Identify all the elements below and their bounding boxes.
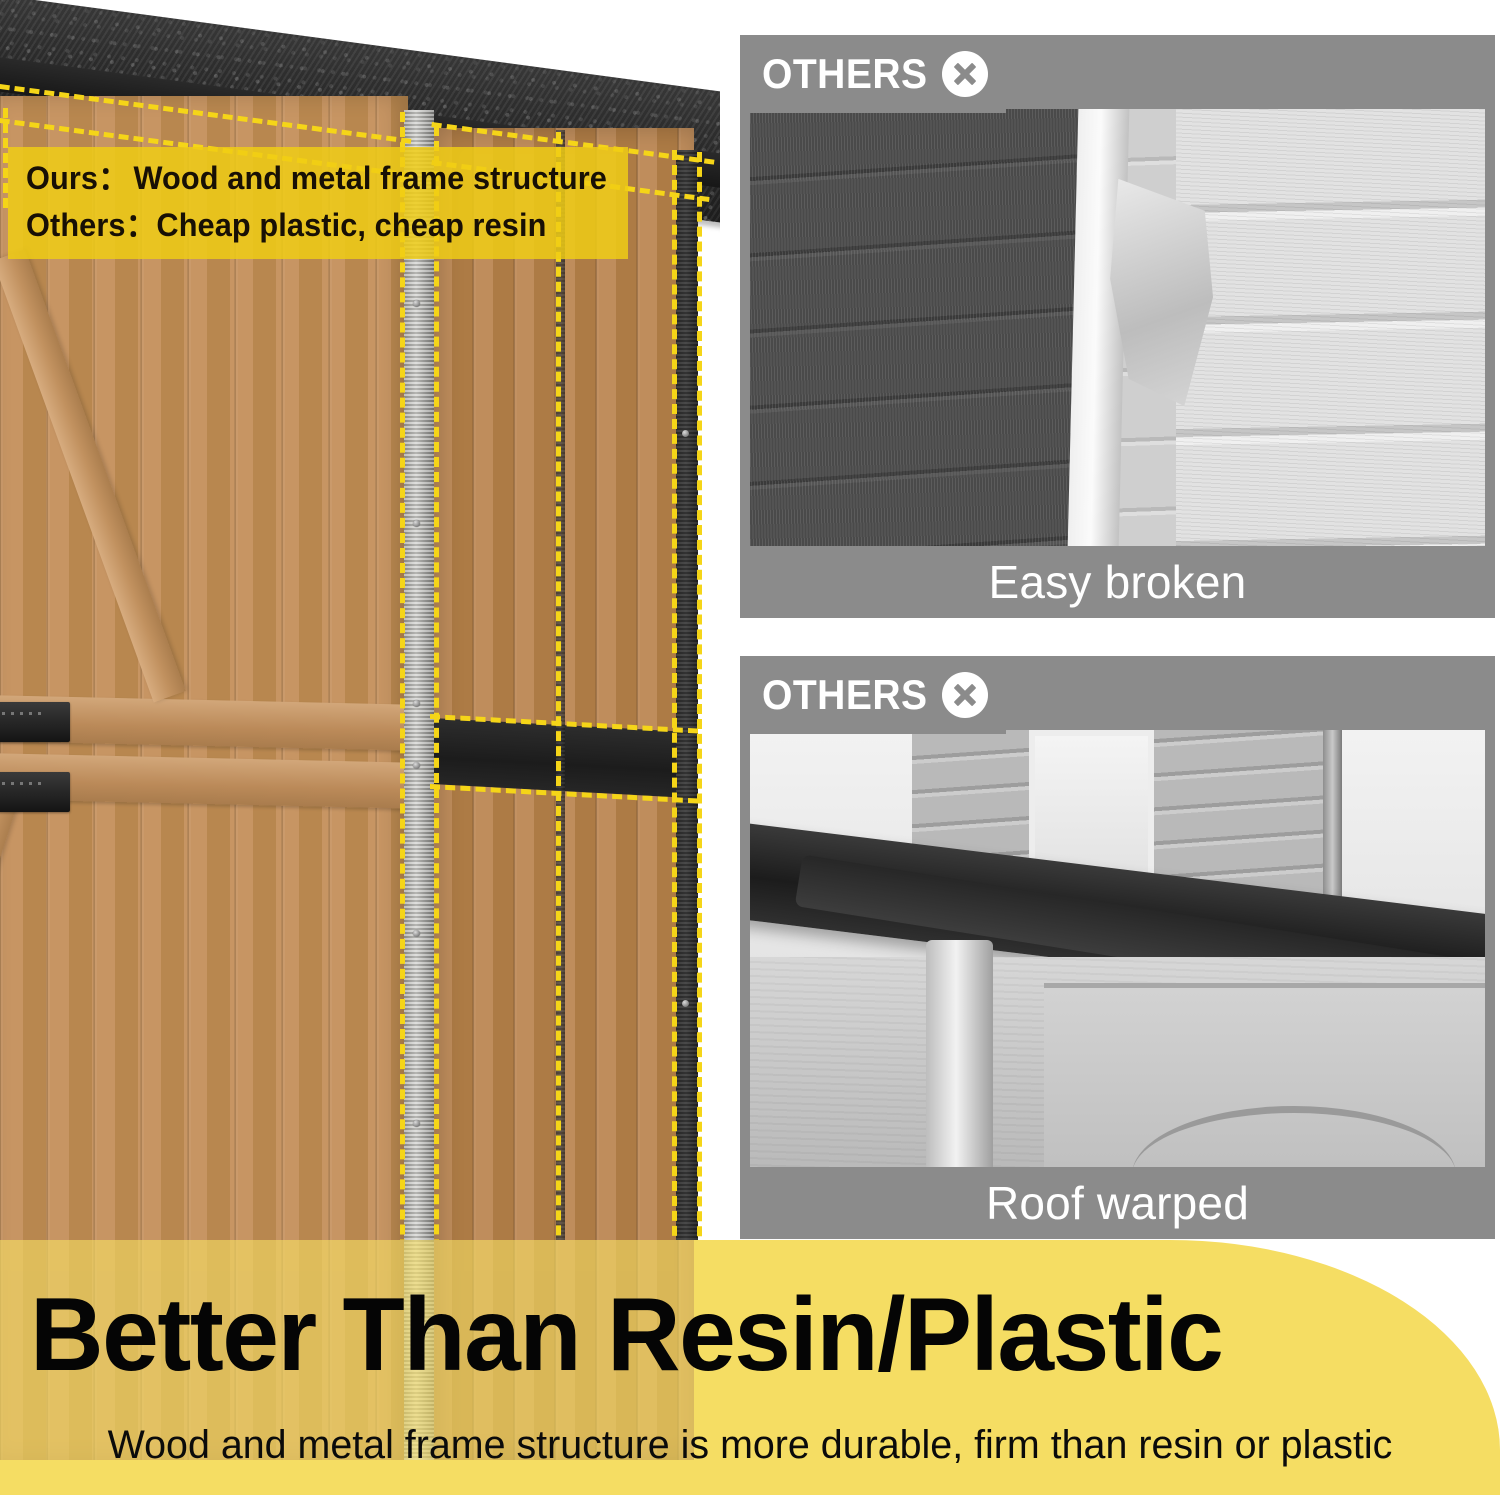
photo-warped-roof	[750, 730, 1485, 1167]
others-badge: OTHERS	[740, 35, 1006, 113]
photo-cracked-siding	[750, 109, 1485, 546]
screw	[413, 300, 420, 307]
ours-key: Ours：	[26, 155, 134, 202]
utility-pole	[1323, 730, 1341, 905]
screw	[413, 762, 420, 769]
banner-subtext: Wood and metal frame structure is more d…	[41, 1425, 1459, 1465]
x-circle-icon	[942, 672, 988, 718]
comparison-panel-roof-warped: OTHERS Roof warped	[740, 656, 1495, 1239]
door-hinge-upper	[0, 702, 70, 742]
screw	[682, 430, 689, 437]
ours-vs-others-label: Ours：Wood and metal frame structure Othe…	[8, 147, 628, 259]
others-value: Cheap plastic, cheap resin	[156, 207, 546, 243]
others-badge: OTHERS	[740, 656, 1006, 734]
banner-shed-brace	[0, 1240, 17, 1300]
screw	[413, 520, 420, 527]
siding-textured-wall	[1176, 109, 1485, 546]
screw	[413, 700, 420, 707]
others-line: Others：Cheap plastic, cheap resin	[26, 202, 604, 249]
door-hinge-lower	[0, 772, 70, 812]
screw	[413, 930, 420, 937]
others-badge-label: OTHERS	[762, 53, 928, 95]
others-badge-label: OTHERS	[762, 674, 928, 716]
caption-roof-warped: Roof warped	[740, 1167, 1495, 1239]
siding-shadowed-wall	[750, 109, 1095, 546]
screw	[413, 1120, 420, 1127]
comparison-panel-easy-broken: OTHERS Easy broken	[740, 35, 1495, 618]
x-circle-icon	[942, 51, 988, 97]
ours-line: Ours：Wood and metal frame structure	[26, 155, 604, 202]
screw	[682, 1000, 689, 1007]
others-key: Others：	[26, 202, 156, 249]
product-comparison-infographic: Ours：Wood and metal frame structure Othe…	[0, 0, 1500, 1495]
banner-headline: Better Than Resin/Plastic	[30, 1283, 1441, 1387]
caption-easy-broken: Easy broken	[740, 546, 1495, 618]
plastic-shed-corner	[926, 940, 992, 1167]
ours-value: Wood and metal frame structure	[134, 160, 607, 196]
